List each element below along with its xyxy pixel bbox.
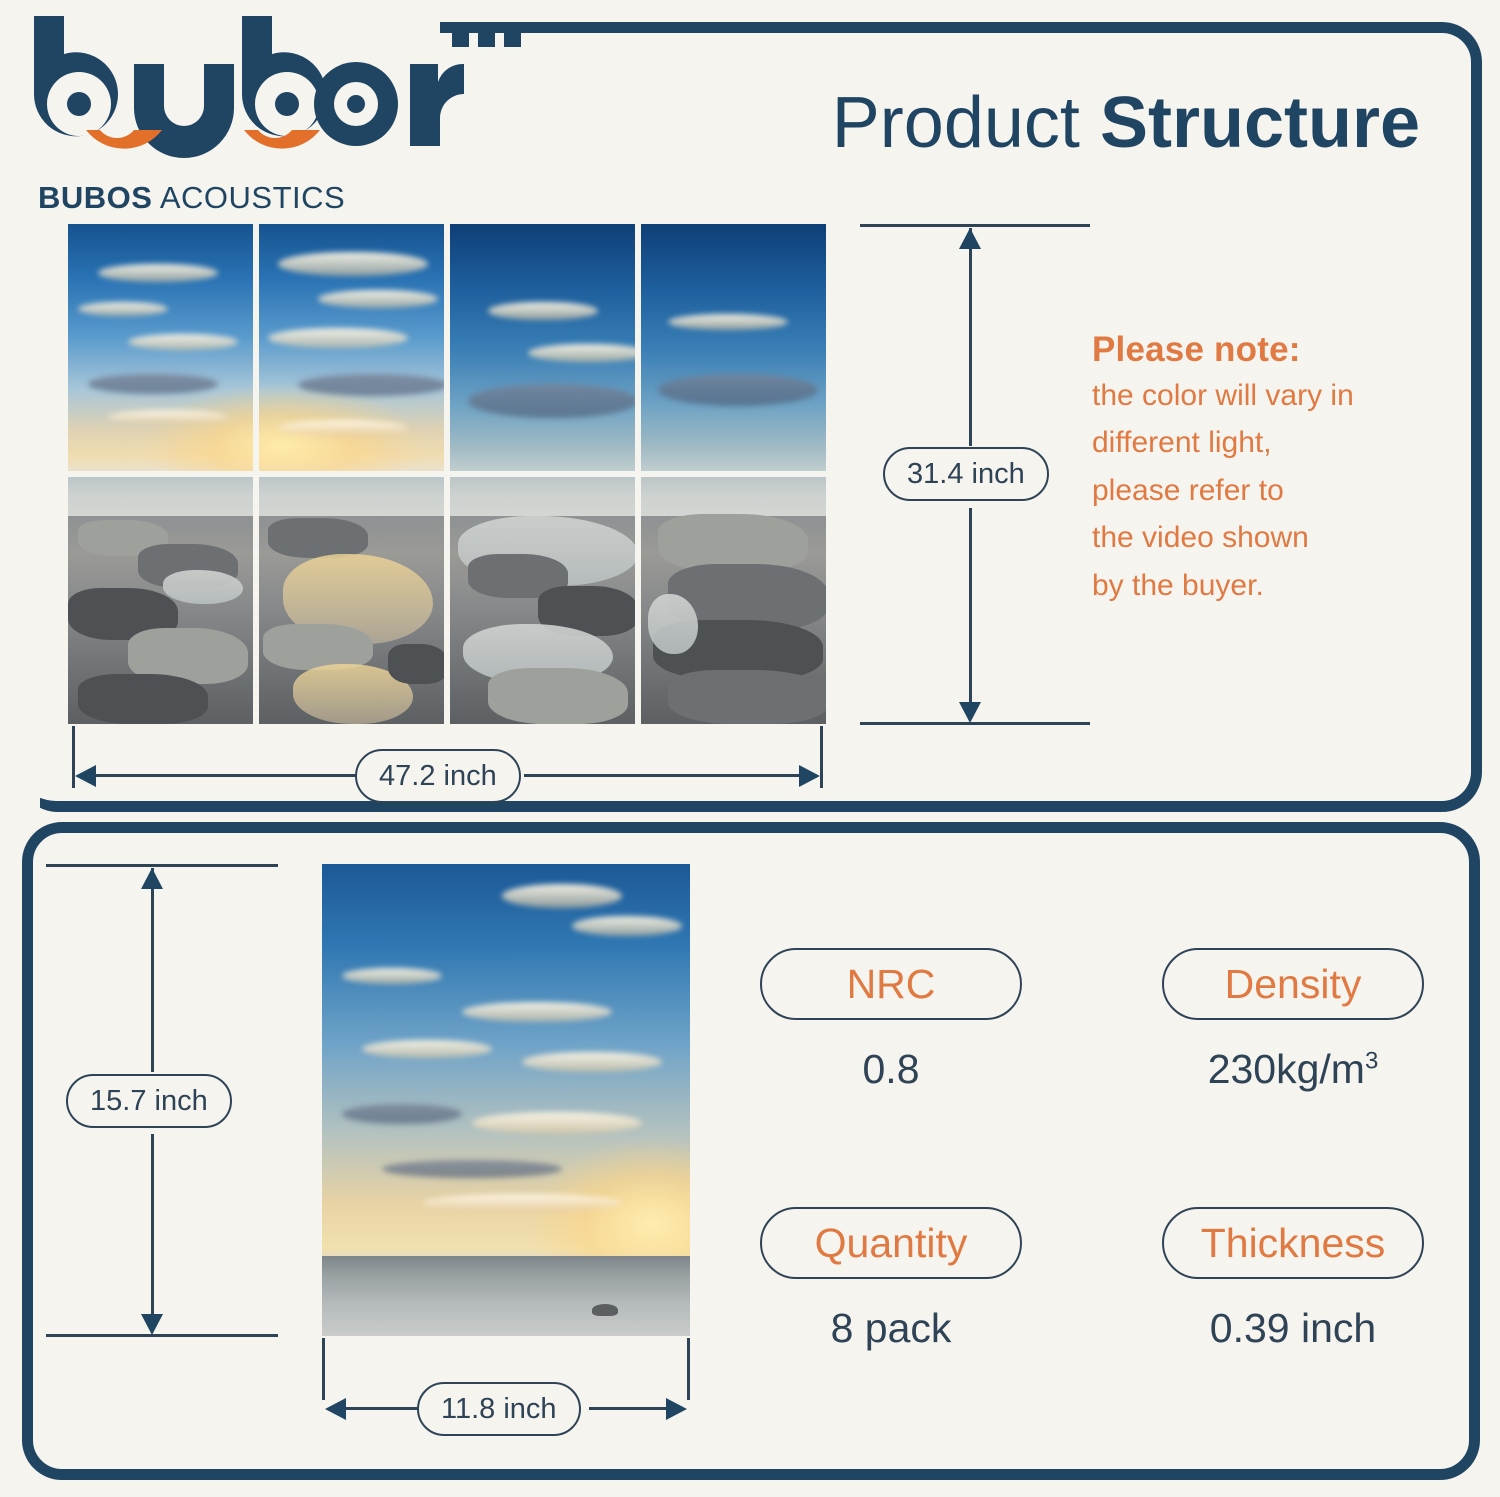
single-art-panel bbox=[322, 864, 690, 1336]
infographic-root: BUBOS ACOUSTICS Product Structure bbox=[0, 0, 1500, 1497]
dimension-label-height-bottom: 15.7 inch bbox=[66, 1074, 232, 1128]
spec-item-density: Density 230kg/m3 bbox=[1162, 948, 1424, 1093]
dim-ext-line-bw-left bbox=[322, 1338, 325, 1400]
sea-rock-detail bbox=[592, 1304, 618, 1316]
title-word-bold: Structure bbox=[1100, 83, 1420, 163]
note-line: please refer to bbox=[1092, 467, 1452, 514]
spec-label: NRC bbox=[760, 948, 1022, 1020]
spec-value: 8 pack bbox=[760, 1305, 1022, 1352]
dim-ext-line-bw-right bbox=[687, 1338, 690, 1400]
art-panel bbox=[641, 477, 826, 724]
spec-value: 230kg/m bbox=[1208, 1046, 1365, 1092]
art-panel bbox=[68, 224, 253, 471]
dimension-label-width-top: 47.2 inch bbox=[355, 749, 521, 803]
note-line: the video shown bbox=[1092, 514, 1452, 561]
art-panel bbox=[641, 224, 826, 471]
dim-arrow-left bbox=[75, 765, 96, 787]
spec-label: Quantity bbox=[760, 1207, 1022, 1279]
note-line: the color will vary in bbox=[1092, 372, 1452, 419]
note-line: different light, bbox=[1092, 419, 1452, 466]
dim-ext-line-top bbox=[860, 224, 1090, 227]
dim-ext-line-bl-top bbox=[46, 864, 278, 867]
note-line: by the buyer. bbox=[1092, 562, 1452, 609]
note-heading: Please note: bbox=[1092, 330, 1452, 370]
spec-value: 0.8 bbox=[760, 1046, 1022, 1093]
dim-line-width-left bbox=[94, 774, 356, 777]
dim-line-bheight-top bbox=[151, 868, 154, 1072]
dim-arrow-down bbox=[959, 702, 981, 723]
artwork-8-panel-grid bbox=[68, 224, 826, 724]
spec-grid: NRC 0.8 Density 230kg/m3 Quantity 8 pack… bbox=[760, 948, 1460, 1352]
brand-logo: BUBOS ACOUSTICS bbox=[22, 8, 492, 208]
dimension-label-height-top: 31.4 inch bbox=[883, 447, 1049, 501]
brand-tagline: BUBOS ACOUSTICS bbox=[38, 180, 345, 216]
logo-dash-flourish-icon bbox=[452, 30, 521, 47]
dim-ext-line-right bbox=[820, 726, 823, 788]
art-panel bbox=[450, 224, 635, 471]
dim-line-width-right bbox=[524, 774, 800, 777]
art-panel bbox=[259, 477, 444, 724]
spec-value-superscript: 3 bbox=[1365, 1047, 1378, 1074]
spec-value: 0.39 inch bbox=[1162, 1305, 1424, 1352]
art-panel bbox=[259, 224, 444, 471]
dimension-label-width-bottom: 11.8 inch bbox=[417, 1382, 581, 1436]
title-word-light: Product bbox=[832, 83, 1080, 163]
art-panel bbox=[68, 477, 253, 724]
dim-line-height-bottom bbox=[969, 508, 972, 704]
art-panel bbox=[450, 477, 635, 724]
dim-arrow-bw-left bbox=[325, 1398, 346, 1420]
bubos-wordmark-icon bbox=[26, 8, 466, 178]
dim-line-bwidth-right bbox=[589, 1407, 667, 1410]
frame-opening-left bbox=[0, 140, 40, 830]
dim-arrow-bw-right bbox=[666, 1398, 687, 1420]
spec-label: Density bbox=[1162, 948, 1424, 1020]
brand-name-bold: BUBOS bbox=[38, 180, 152, 215]
dim-arrow-bl-up bbox=[141, 868, 163, 889]
spec-item-thickness: Thickness 0.39 inch bbox=[1162, 1207, 1424, 1352]
dim-line-bheight-bottom bbox=[151, 1134, 154, 1316]
page-title: Product Structure bbox=[590, 86, 1420, 162]
please-note-block: Please note: the color will vary in diff… bbox=[1092, 330, 1452, 609]
dim-line-bwidth-left bbox=[342, 1407, 418, 1410]
spec-value-wrap: 230kg/m3 bbox=[1162, 1046, 1424, 1093]
dim-arrow-up bbox=[959, 228, 981, 249]
spec-item-quantity: Quantity 8 pack bbox=[760, 1207, 1022, 1352]
dim-arrow-bl-down bbox=[141, 1314, 163, 1335]
brand-name-light: ACOUSTICS bbox=[160, 180, 345, 215]
spec-label: Thickness bbox=[1162, 1207, 1424, 1279]
dim-line-height-top bbox=[969, 228, 972, 446]
dim-arrow-right bbox=[799, 765, 820, 787]
spec-item-nrc: NRC 0.8 bbox=[760, 948, 1022, 1093]
